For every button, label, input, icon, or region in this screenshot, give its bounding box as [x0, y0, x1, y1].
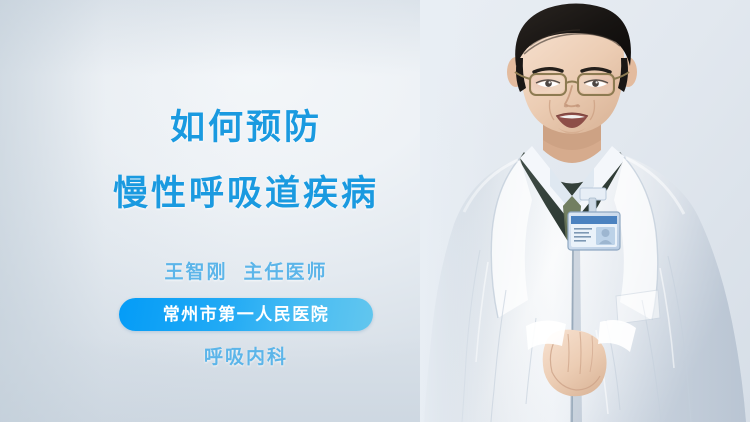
- banner-title-line-1: 如何预防: [170, 110, 322, 145]
- presenter-row: 王智刚 主任医师: [164, 263, 327, 282]
- banner-text-column: 如何预防 慢性呼吸道疾病 王智刚 主任医师 常州市第一人民医院 呼吸内科: [0, 0, 492, 422]
- presenter-name: 王智刚: [164, 263, 227, 282]
- hospital-badge: 常州市第一人民医院: [119, 298, 373, 331]
- health-lecture-banner: 如何预防 慢性呼吸道疾病 王智刚 主任医师 常州市第一人民医院 呼吸内科: [0, 0, 750, 422]
- banner-title-line-2: 慢性呼吸道疾病: [113, 176, 379, 211]
- presenter-rank: 主任医师: [244, 263, 328, 282]
- hospital-name: 常州市第一人民医院: [163, 306, 330, 323]
- department-name: 呼吸内科: [204, 348, 288, 367]
